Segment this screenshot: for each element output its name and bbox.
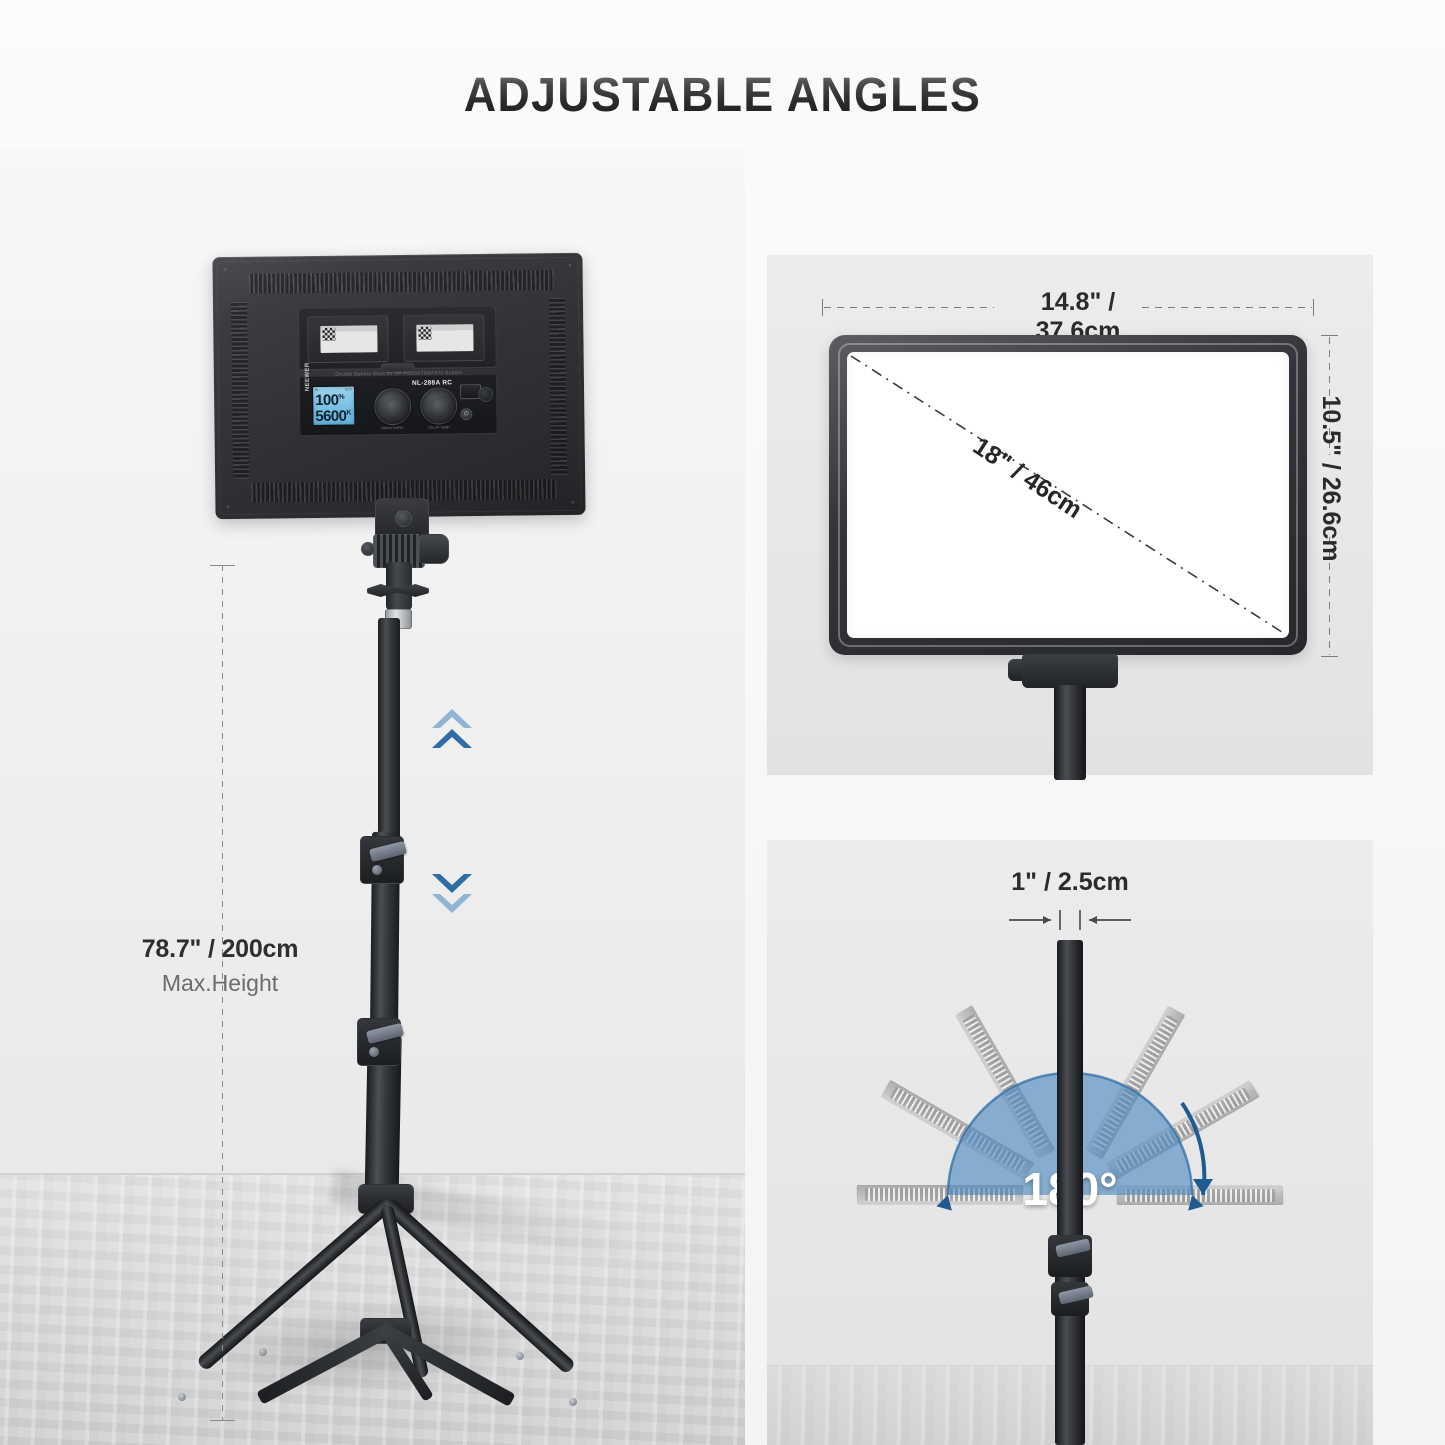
battery-plate	[307, 315, 389, 363]
brightness-knob[interactable]	[374, 388, 411, 425]
stand-pole	[1054, 685, 1086, 780]
lcd-temperature-row: 5600K	[315, 409, 351, 424]
lcd-temperature-value: 5600	[315, 408, 346, 425]
panel-rotation: 1" / 2.5cm 180°	[767, 840, 1373, 1445]
led-panel-front: 18" / 46cm	[829, 335, 1307, 655]
brace-joint-right	[516, 1352, 524, 1360]
stand-lock-clamp[interactable]	[1051, 1282, 1089, 1316]
screw-dot	[226, 505, 229, 508]
brace-joint-left	[259, 1348, 267, 1356]
brightness-knob-label: BRIGHTNESS	[370, 426, 414, 431]
tilt-bracket[interactable]	[349, 506, 447, 602]
certification-label	[320, 325, 377, 353]
max-height-value: 78.7" / 200cm	[55, 935, 385, 964]
screw-dot	[571, 501, 574, 504]
panel-dimensions: 14.8" / 37.6cm 10.5" / 26.6cm 18" / 46cm	[767, 255, 1373, 775]
stand-lock-clamp-upper[interactable]	[360, 836, 404, 884]
battery-plate	[403, 314, 485, 362]
screw-dot	[569, 264, 572, 267]
bracket-stem	[386, 562, 412, 610]
max-height-annotation: 78.7" / 200cm Max.Height	[55, 935, 385, 997]
model-label: NL-288A RC	[412, 379, 452, 386]
qr-code-icon	[322, 328, 335, 341]
lcd-brightness-value: 100	[315, 392, 338, 409]
color-temp-knob[interactable]	[420, 387, 457, 424]
height-dimension-label: 10.5" / 26.6cm	[1316, 381, 1345, 576]
qr-code-icon	[418, 327, 431, 340]
hero-scene: Double Battery Slots for NP-F550/F750/F9…	[0, 150, 745, 1445]
lcd-display: % CCT 100% 5600K	[312, 386, 355, 427]
lcd-mode-right: CCT	[345, 388, 352, 392]
vent-top-icon	[249, 270, 554, 294]
lcd-temperature-unit: K	[346, 410, 351, 417]
control-console: NEEWER % CCT 100% 5600K BRIGHTNESS COLOR…	[299, 374, 498, 436]
stand-section-top	[378, 618, 400, 836]
vent-right-icon	[549, 297, 567, 475]
tripod-foot-left	[178, 1393, 186, 1401]
vent-left-icon	[231, 301, 249, 479]
screw-dot	[224, 268, 227, 271]
double-chevron-up-icon	[428, 702, 476, 754]
height-dimension-cap-bottom	[210, 1420, 235, 1421]
power-button[interactable]: ⏻	[460, 408, 472, 420]
height-dimension: 10.5" / 26.6cm	[1312, 335, 1346, 657]
bracket-mount-plate	[375, 498, 429, 538]
led-panel-rear: Double Battery Slots for NP-F550/F750/F9…	[212, 253, 585, 520]
double-chevron-down-icon	[428, 868, 476, 920]
max-height-caption: Max.Height	[55, 970, 385, 997]
bracket-tension-knob[interactable]	[419, 534, 449, 564]
battery-bay: Double Battery Slots for NP-F550/F750/F9…	[298, 306, 497, 370]
panel-diffuser: 18" / 46cm	[847, 352, 1289, 638]
stand-lock-clamp-lower[interactable]	[357, 1018, 401, 1066]
certification-label	[416, 324, 473, 352]
stand-pole-upper	[1057, 940, 1083, 1270]
tilt-head-clamp[interactable]	[1048, 1235, 1092, 1277]
height-dimension-cap-top	[210, 565, 235, 566]
lcd-brightness-unit: %	[338, 394, 344, 401]
panel-mount-block	[1022, 654, 1118, 688]
brand-label: NEEWER	[305, 362, 311, 391]
lcd-brightness-row: 100%	[315, 393, 344, 408]
width-dimension: 14.8" / 37.6cm	[822, 297, 1314, 317]
bracket-pivot-pin	[361, 542, 375, 556]
color-temp-knob-label: COLOR TEMP	[416, 425, 460, 430]
tripod-foot-right	[569, 1398, 577, 1406]
page-title: ADJUSTABLE ANGLES	[51, 68, 1395, 123]
dc-input-socket	[478, 387, 493, 402]
